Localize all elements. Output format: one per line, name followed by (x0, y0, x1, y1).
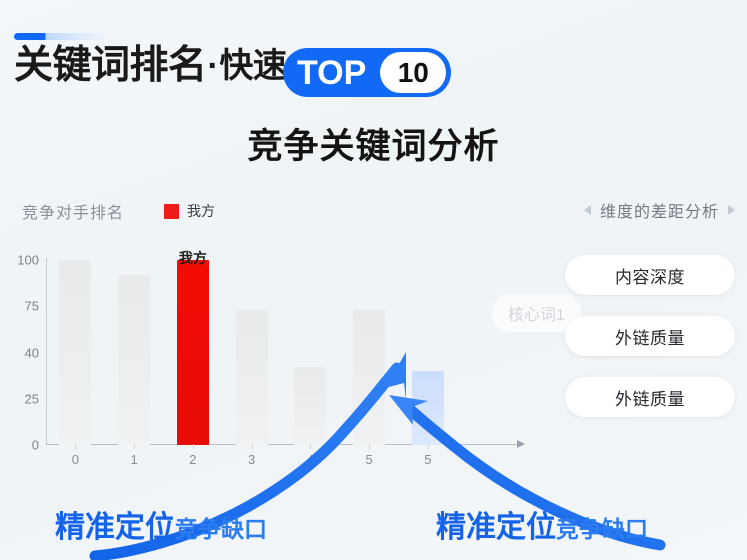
legend-swatch-icon (164, 204, 179, 219)
x-axis-tick-mark (75, 444, 76, 449)
x-axis-tick-label: 2 (189, 452, 196, 467)
dimension-cards-list: 内容深度外链质量外链质量 (565, 255, 735, 417)
y-axis-tick-label: 75 (0, 299, 39, 314)
top-badge-label: TOP (297, 56, 366, 90)
x-axis-arrow-icon (517, 440, 525, 448)
dimensions-panel-title: 维度的差距分析 (600, 198, 719, 222)
bar-competitor (236, 310, 268, 445)
header-progress-bar (14, 33, 106, 40)
y-axis-tick-label: 25 (0, 391, 39, 406)
bar-competitor (294, 367, 326, 445)
legend-item-label: 我方 (187, 201, 215, 221)
top-rank-badge: TOP 10 (283, 48, 451, 97)
caption-right: 精准定位 竞争缺口 (436, 502, 648, 546)
x-axis-tick-label: 5 (424, 452, 431, 467)
x-axis-tick-mark (193, 444, 194, 449)
legend-item-mine: 我方 (164, 201, 215, 221)
y-axis-tick-label: 100 (0, 253, 39, 268)
x-axis-tick-label: 4 (307, 452, 314, 467)
x-axis-tick-mark (134, 444, 135, 449)
page-title: 关键词排名 · 快速 (14, 46, 286, 85)
x-axis-tick-mark (369, 444, 370, 449)
top-badge-number: 10 (380, 52, 446, 93)
x-axis-tick-label: 1 (131, 452, 138, 467)
chart-legend: 竞争对手排名 我方 (22, 199, 215, 223)
x-axis-tick-label: 5 (366, 452, 373, 467)
dimensions-panel-header: 维度的差距分析 (584, 198, 735, 222)
caption-left: 精准定位 竞争缺口 (55, 502, 267, 546)
dimension-card[interactable]: 外链质量 (565, 316, 735, 356)
bar-mine (177, 260, 209, 445)
title-mid-text: 快速 (219, 49, 286, 83)
caption-right-strong: 精准定位 (436, 502, 556, 546)
triangle-right-icon (728, 205, 735, 215)
caption-left-strong: 精准定位 (55, 502, 175, 546)
caption-left-soft: 竞争缺口 (175, 510, 267, 544)
bar-competitor (353, 310, 385, 445)
mine-bar-label: 我方 (179, 248, 207, 268)
bar-competitor (118, 275, 150, 445)
chart-plot-area (46, 260, 516, 445)
page-subtitle: 竞争关键词分析 (0, 118, 747, 169)
bar-opportunity (412, 371, 444, 445)
title-main-text: 关键词排名 (14, 46, 207, 85)
x-axis-tick-label: 0 (72, 452, 79, 467)
bar-competitor (59, 260, 91, 445)
chart-legend-title: 竞争对手排名 (22, 199, 124, 223)
triangle-left-icon (584, 205, 591, 215)
x-axis-tick-mark (252, 444, 253, 449)
dimension-card[interactable]: 外链质量 (565, 377, 735, 417)
caption-right-soft: 竞争缺口 (556, 510, 648, 544)
y-axis-tick-label: 40 (0, 345, 39, 360)
x-axis-tick-mark (310, 444, 311, 449)
x-axis-tick-label: 3 (248, 452, 255, 467)
competitor-ranking-chart: 1007540250 0123455 我方 (0, 250, 545, 465)
title-separator: · (208, 49, 219, 83)
dimension-card[interactable]: 内容深度 (565, 255, 735, 295)
x-axis-tick-mark (428, 444, 429, 449)
y-axis-tick-label: 0 (0, 438, 39, 453)
